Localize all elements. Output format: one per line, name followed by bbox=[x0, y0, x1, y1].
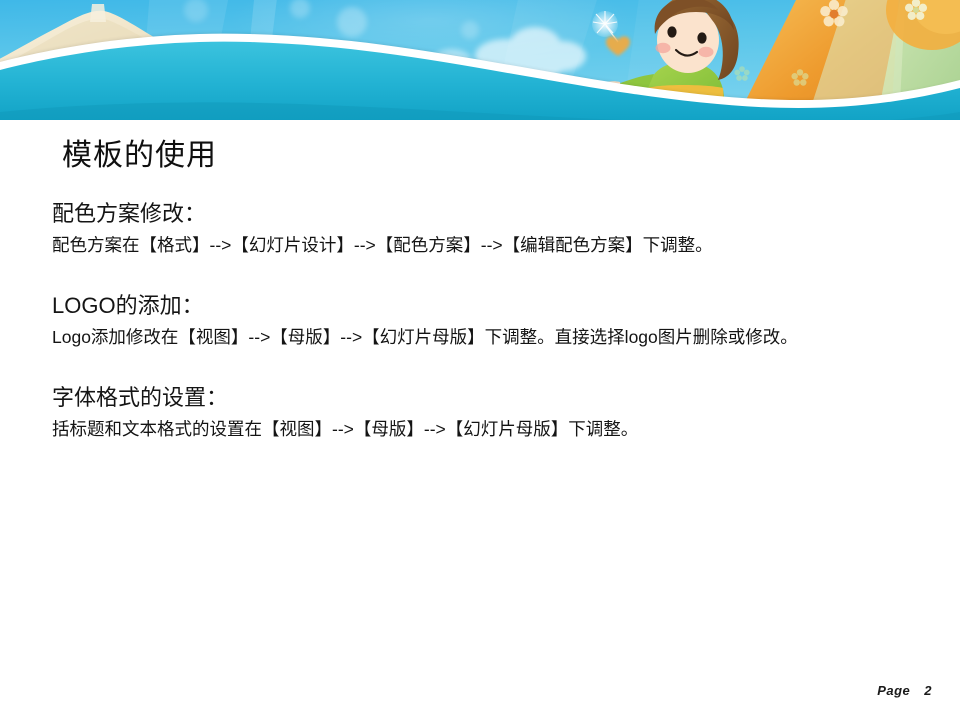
section-heading: 配色方案修改： bbox=[52, 198, 914, 230]
page-number: 2 bbox=[924, 683, 932, 698]
page-label: Page bbox=[877, 683, 910, 698]
content-body: 配色方案修改： 配色方案在【格式】-->【幻灯片设计】-->【配色方案】-->【… bbox=[52, 198, 914, 444]
section-logo: LOGO的添加： Logo添加修改在【视图】-->【母版】-->【幻灯片母版】下… bbox=[52, 290, 914, 352]
section-heading: LOGO的添加： bbox=[52, 290, 914, 322]
section-heading: 字体格式的设置： bbox=[52, 382, 914, 414]
section-body-text: Logo添加修改在【视图】-->【母版】-->【幻灯片母版】下调整。直接选择lo… bbox=[52, 322, 912, 352]
section-color-scheme: 配色方案修改： 配色方案在【格式】-->【幻灯片设计】-->【配色方案】-->【… bbox=[52, 198, 914, 260]
header-banner-image bbox=[0, 0, 960, 120]
section-body-text: 括标题和文本格式的设置在【视图】-->【母版】-->【幻灯片母版】下调整。 bbox=[52, 414, 912, 444]
footer-page-indicator: Page 2 bbox=[877, 683, 932, 698]
section-font-format: 字体格式的设置： 括标题和文本格式的设置在【视图】-->【母版】-->【幻灯片母… bbox=[52, 382, 914, 444]
section-body-text: 配色方案在【格式】-->【幻灯片设计】-->【配色方案】-->【编辑配色方案】下… bbox=[52, 230, 912, 260]
presentation-slide: 模板的使用 配色方案修改： 配色方案在【格式】-->【幻灯片设计】-->【配色方… bbox=[0, 0, 960, 720]
title-block: 模板的使用 bbox=[62, 136, 902, 176]
page-title: 模板的使用 bbox=[62, 136, 902, 176]
